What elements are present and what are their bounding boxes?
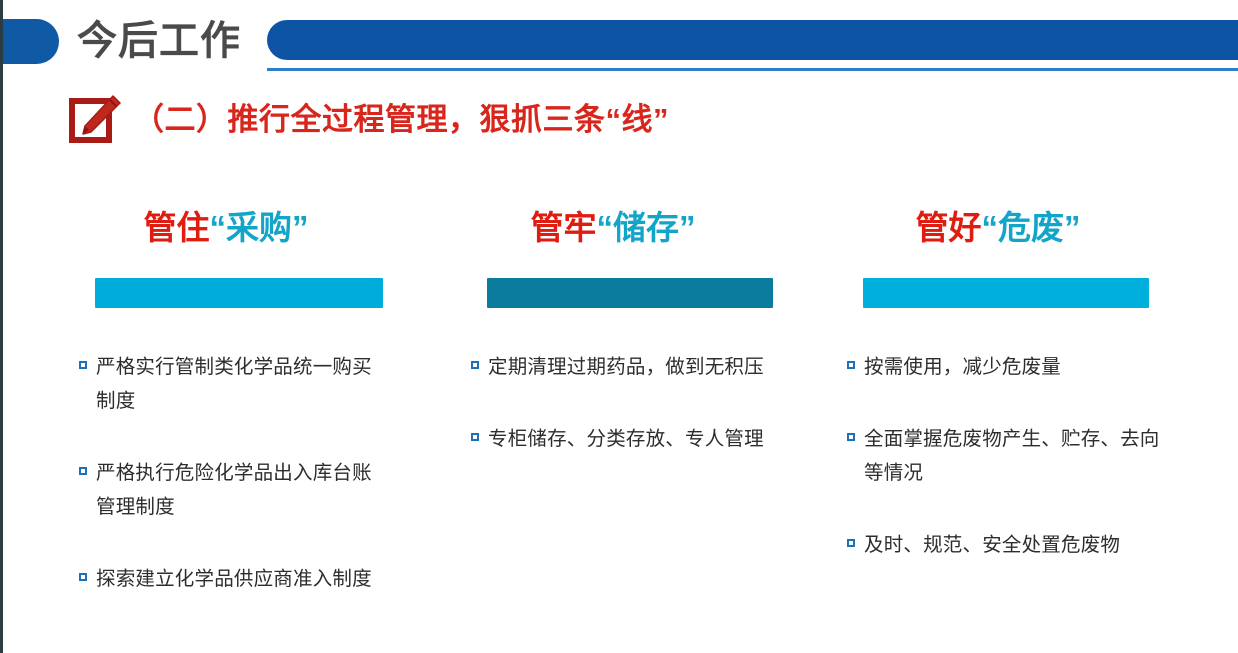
- square-bullet-icon: [847, 361, 855, 369]
- list-item: 及时、规范、安全处置危废物: [847, 528, 1164, 562]
- square-bullet-icon: [471, 433, 479, 441]
- list-item-text: 探索建立化学品供应商准入制度: [96, 562, 386, 596]
- column-bar-2: [487, 278, 773, 308]
- list-item: 探索建立化学品供应商准入制度: [79, 562, 386, 596]
- list-item-text: 按需使用，减少危废量: [864, 350, 1164, 384]
- square-bullet-icon: [847, 433, 855, 441]
- header-left-pill-decoration: [3, 19, 59, 64]
- bullet-list-3: 按需使用，减少危废量 全面掌握危废物产生、贮存、去向等情况 及时、规范、安全处置…: [847, 350, 1207, 562]
- header-underline-decoration: [267, 68, 1238, 71]
- subtitle-row: （二）推行全过程管理，狠抓三条“线”: [69, 92, 669, 148]
- column-bar-1: [95, 278, 383, 308]
- column-heading-2: 管牢“储存”: [471, 205, 831, 257]
- slide-canvas: 今后工作 （二）推行全过程管理，狠抓三条“线” 管住“采购”: [0, 0, 1238, 653]
- bullet-list-1: 严格实行管制类化学品统一购买制度 严格执行危险化学品出入库台账管理制度 探索建立…: [79, 350, 439, 596]
- column-bar-3: [863, 278, 1149, 308]
- list-item-text: 严格实行管制类化学品统一购买制度: [96, 350, 386, 418]
- subtitle-text: （二）推行全过程管理，狠抓三条“线”: [133, 100, 669, 140]
- column-heading-3-prefix: 管好: [916, 209, 982, 246]
- bullet-list-2: 定期清理过期药品，做到无积压 专柜储存、分类存放、专人管理: [471, 350, 831, 456]
- square-bullet-icon: [79, 361, 87, 369]
- list-item: 严格执行危险化学品出入库台账管理制度: [79, 456, 386, 524]
- column-heading-2-quoted: “储存”: [597, 209, 696, 246]
- list-item: 全面掌握危废物产生、贮存、去向等情况: [847, 422, 1164, 490]
- list-item-text: 严格执行危险化学品出入库台账管理制度: [96, 456, 386, 524]
- square-bullet-icon: [79, 467, 87, 475]
- slide-header: 今后工作: [3, 0, 1238, 86]
- list-item: 按需使用，减少危废量: [847, 350, 1164, 384]
- column-hazardous-waste: 管好“危废” 按需使用，减少危废量 全面掌握危废物产生、贮存、去向等情况 及时、…: [847, 205, 1207, 600]
- content-columns: 管住“采购” 严格实行管制类化学品统一购买制度 严格执行危险化学品出入库台账管理…: [3, 205, 1238, 653]
- square-bullet-icon: [79, 573, 87, 581]
- edit-pencil-icon: [69, 95, 123, 145]
- list-item-text: 专柜储存、分类存放、专人管理: [488, 422, 778, 456]
- column-heading-1-quoted: “采购”: [210, 209, 309, 246]
- square-bullet-icon: [847, 539, 855, 547]
- column-heading-3-quoted: “危废”: [982, 209, 1081, 246]
- column-procurement: 管住“采购” 严格实行管制类化学品统一购买制度 严格执行危险化学品出入库台账管理…: [79, 205, 439, 634]
- column-heading-3: 管好“危废”: [847, 205, 1207, 257]
- list-item-text: 全面掌握危废物产生、贮存、去向等情况: [864, 422, 1164, 490]
- column-heading-2-prefix: 管牢: [531, 209, 597, 246]
- list-item: 严格实行管制类化学品统一购买制度: [79, 350, 386, 418]
- header-blue-bar-decoration: [267, 20, 1238, 60]
- list-item: 专柜储存、分类存放、专人管理: [471, 422, 778, 456]
- column-storage: 管牢“储存” 定期清理过期药品，做到无积压 专柜储存、分类存放、专人管理: [471, 205, 831, 494]
- page-title: 今后工作: [77, 15, 241, 67]
- column-heading-1: 管住“采购”: [79, 205, 439, 257]
- list-item-text: 定期清理过期药品，做到无积压: [488, 350, 778, 384]
- square-bullet-icon: [471, 361, 479, 369]
- list-item-text: 及时、规范、安全处置危废物: [864, 528, 1164, 562]
- column-heading-1-prefix: 管住: [144, 209, 210, 246]
- list-item: 定期清理过期药品，做到无积压: [471, 350, 778, 384]
